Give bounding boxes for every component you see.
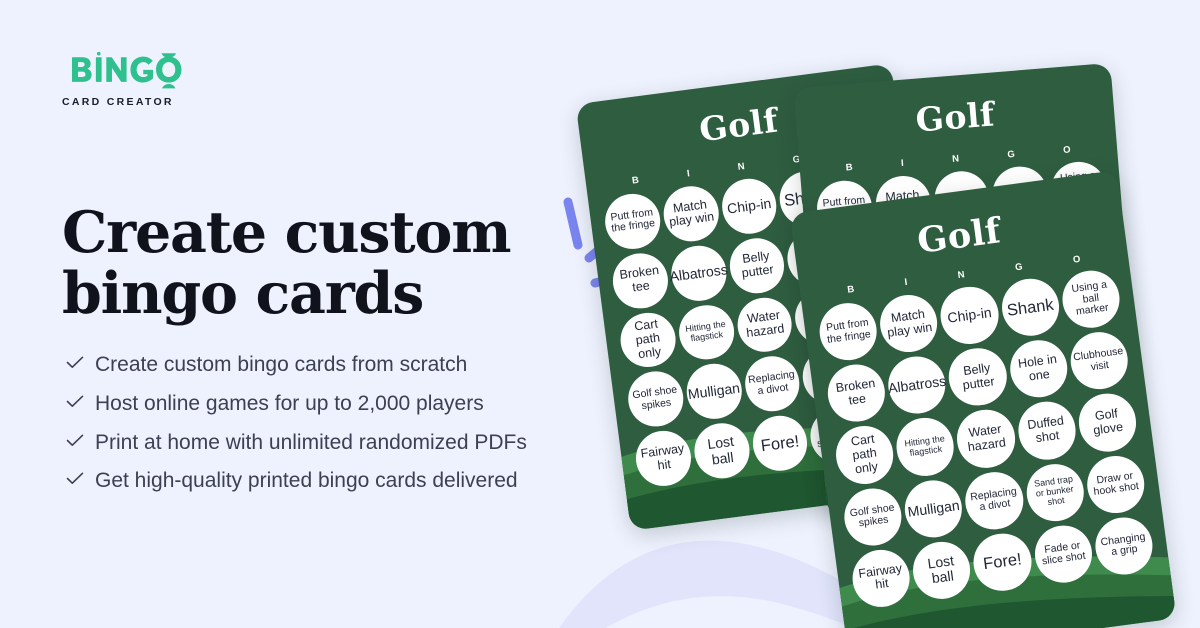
card-letter-n: N xyxy=(957,269,966,281)
bingo-cell-label: Golf shoe spikes xyxy=(841,485,905,549)
bingo-wordmark-icon xyxy=(62,52,188,92)
bingo-cell[interactable]: Belly putter xyxy=(946,345,1010,409)
bingo-cell[interactable]: Mulligan xyxy=(901,476,965,540)
card-letter-i: I xyxy=(901,158,905,169)
bingo-cell[interactable]: Chip-in xyxy=(718,175,779,236)
bingo-cell[interactable]: Albatross xyxy=(668,242,729,303)
list-item-label: Get high-quality printed bingo cards del… xyxy=(95,468,518,494)
hero-banner: CARD CREATOR Create custom bingo cards xyxy=(0,0,1200,628)
bingo-cell[interactable]: Albatross xyxy=(885,353,949,417)
bingo-cell[interactable]: Draw or hook shot xyxy=(1083,452,1147,516)
bingo-cell-label: Match play win xyxy=(660,183,721,244)
headline-line-1: Create custom xyxy=(62,199,510,266)
bingo-cell-label: Albatross xyxy=(668,242,729,303)
card-letter-n: N xyxy=(952,153,960,165)
bingo-cell[interactable]: Golf shoe spikes xyxy=(625,369,686,430)
bingo-cell-label: Chip-in xyxy=(718,175,779,236)
list-item: Print at home with unlimited randomized … xyxy=(66,430,626,456)
bingo-cell-label: Cart path only xyxy=(833,423,897,487)
bingo-cell-label: Fore! xyxy=(970,530,1034,594)
check-icon xyxy=(66,356,84,374)
card-letter-g: G xyxy=(1014,261,1023,273)
bingo-cell[interactable]: Hole in one xyxy=(1006,337,1070,401)
card-letter-n: N xyxy=(737,161,746,173)
feature-list: Create custom bingo cards from scratch H… xyxy=(66,352,626,507)
list-item-label: Host online games for up to 2,000 player… xyxy=(95,391,484,417)
card-letter-i: I xyxy=(686,168,691,179)
bingo-cell[interactable]: Hitting the flagstick xyxy=(893,415,957,479)
list-item: Host online games for up to 2,000 player… xyxy=(66,391,626,417)
list-item-label: Create custom bingo cards from scratch xyxy=(95,352,467,378)
card-letter-b: B xyxy=(631,175,640,187)
bingo-cell-label: Lost ball xyxy=(910,538,974,602)
bingo-cell-label: Putt from the fringe xyxy=(602,191,663,252)
bingo-cell[interactable]: Using a ball marker xyxy=(1059,267,1123,331)
bingo-cell-label: Golf shoe spikes xyxy=(625,369,686,430)
bingo-cell[interactable]: Fade or slice shot xyxy=(1031,522,1095,586)
bingo-cell[interactable]: Match play win xyxy=(660,183,721,244)
card-letter-o: O xyxy=(1063,144,1072,156)
bingo-cell-label: Belly putter xyxy=(726,235,787,296)
bingo-cell-label: Chip-in xyxy=(937,283,1001,347)
bingo-cell-label: Hitting the flagstick xyxy=(893,415,957,479)
list-item: Create custom bingo cards from scratch xyxy=(66,352,626,378)
bingo-cell-label: Lost ball xyxy=(691,420,752,481)
bingo-cell[interactable]: Fairway hit xyxy=(849,546,913,610)
headline-line-2: bingo cards xyxy=(62,260,423,327)
brand-tagline: CARD CREATOR xyxy=(62,96,188,108)
bingo-cell[interactable]: Broken tee xyxy=(824,361,888,425)
bingo-cell[interactable]: Putt from the fringe xyxy=(602,191,663,252)
bingo-cell-label: Clubhouse visit xyxy=(1067,329,1131,393)
bingo-cell[interactable]: Broken tee xyxy=(610,250,671,311)
bingo-cell-label: Putt from the fringe xyxy=(816,300,880,364)
bingo-cell-label: Water hazard xyxy=(734,294,795,355)
card-title: Golf xyxy=(795,85,1115,149)
check-icon xyxy=(66,472,84,490)
bingo-cell-label: Water hazard xyxy=(954,407,1018,471)
bingo-cell[interactable]: Belly putter xyxy=(726,235,787,296)
check-icon xyxy=(66,395,84,413)
bingo-cell-label: Broken tee xyxy=(610,250,671,311)
bingo-cell[interactable]: Lost ball xyxy=(910,538,974,602)
bingo-cell[interactable]: Replacing a divot xyxy=(962,468,1026,532)
bingo-cell[interactable]: Water hazard xyxy=(954,407,1018,471)
bingo-cell-label: Match play win xyxy=(877,291,941,355)
card-letter-i: I xyxy=(904,277,909,288)
bingo-cell[interactable]: Fairway hit xyxy=(633,428,694,489)
hero-copy-column: CARD CREATOR Create custom bingo cards xyxy=(62,52,602,114)
bingo-cell-label: Duffed shot xyxy=(1015,399,1079,463)
bingo-cell-label: Cart path only xyxy=(617,309,678,370)
brand-logo[interactable]: CARD CREATOR xyxy=(62,52,188,114)
bingo-cell-label: Fore! xyxy=(749,413,810,474)
bingo-cell[interactable]: Duffed shot xyxy=(1015,399,1079,463)
bingo-cell-label: Fade or slice shot xyxy=(1031,522,1095,586)
bingo-cell-label: Belly putter xyxy=(946,345,1010,409)
bingo-cell[interactable]: Water hazard xyxy=(734,294,795,355)
list-item-label: Print at home with unlimited randomized … xyxy=(95,430,527,456)
card-letter-g: G xyxy=(1007,149,1016,161)
bingo-cell-label: Draw or hook shot xyxy=(1083,452,1147,516)
bingo-cell[interactable]: Golf shoe spikes xyxy=(841,485,905,549)
bingo-cell[interactable]: Fore! xyxy=(749,413,810,474)
bingo-cell[interactable]: Golf glove xyxy=(1075,390,1139,454)
bingo-cell[interactable]: Lost ball xyxy=(691,420,752,481)
bingo-cell-label: Hitting the flagstick xyxy=(676,302,737,363)
bingo-cell[interactable]: Putt from the fringe xyxy=(816,300,880,364)
list-item: Get high-quality printed bingo cards del… xyxy=(66,468,626,494)
bingo-cell[interactable]: Cart path only xyxy=(617,309,678,370)
bingo-cell-label: Golf glove xyxy=(1075,390,1139,454)
bingo-cell[interactable]: Clubhouse visit xyxy=(1067,329,1131,393)
bingo-card-front[interactable]: Golf B I N G O Putt from the fringeMatch… xyxy=(790,170,1177,628)
bingo-cell[interactable]: Changing a grip xyxy=(1092,514,1156,578)
bingo-card-stack: Golf B I N G O Putt from the fringeMatch… xyxy=(560,0,1200,628)
card-letter-b: B xyxy=(845,162,853,174)
bingo-cell-label: Fairway hit xyxy=(849,546,913,610)
bingo-cell[interactable]: Match play win xyxy=(877,291,941,355)
card-title: Golf xyxy=(793,194,1126,278)
bingo-cell[interactable]: Fore! xyxy=(970,530,1034,594)
bingo-cell-label: Mulligan xyxy=(683,361,744,422)
bingo-cell-label: Mulligan xyxy=(901,476,965,540)
bingo-cell[interactable]: Sand trap or bunker shot xyxy=(1023,460,1087,524)
bingo-cell[interactable]: Cart path only xyxy=(833,423,897,487)
bingo-cell-label: Sand trap or bunker shot xyxy=(1023,460,1087,524)
bingo-cell-label: Hole in one xyxy=(1006,337,1070,401)
card-letter-o: O xyxy=(1072,254,1081,266)
bingo-cell[interactable]: Chip-in xyxy=(937,283,1001,347)
page-title: Create custom bingo cards xyxy=(62,202,582,324)
card-letter-b: B xyxy=(847,284,856,296)
bingo-cell[interactable]: Hitting the flagstick xyxy=(676,302,737,363)
bingo-cell[interactable]: Shank xyxy=(998,275,1062,339)
bingo-cell-label: Changing a grip xyxy=(1092,514,1156,578)
bingo-cell-label: Shank xyxy=(998,275,1062,339)
bingo-cell-label: Using a ball marker xyxy=(1059,267,1123,331)
bingo-cell-label: Replacing a divot xyxy=(742,353,803,414)
bingo-cell-label: Fairway hit xyxy=(633,428,694,489)
check-icon xyxy=(66,434,84,452)
bingo-cell[interactable]: Mulligan xyxy=(683,361,744,422)
card-grid: Putt from the fringeMatch play winChip-i… xyxy=(816,267,1156,610)
bingo-cell[interactable]: Replacing a divot xyxy=(742,353,803,414)
bingo-cell-label: Broken tee xyxy=(824,361,888,425)
bingo-cell-label: Albatross xyxy=(885,353,949,417)
bingo-cell-label: Replacing a divot xyxy=(962,468,1026,532)
